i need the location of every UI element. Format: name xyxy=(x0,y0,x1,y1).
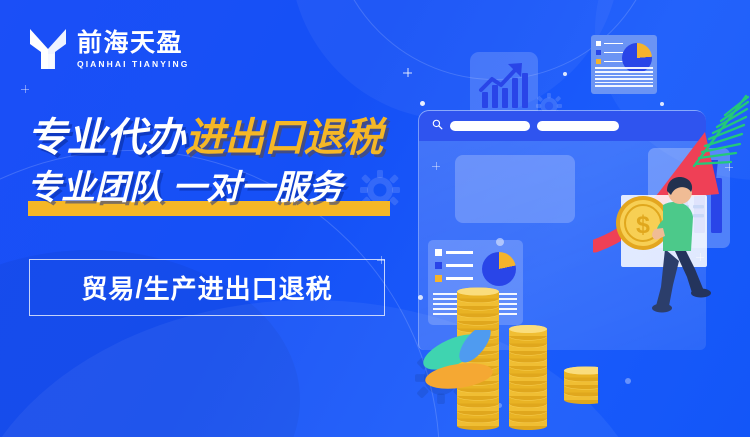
svg-text:$: $ xyxy=(636,211,650,239)
tagline-text: 贸易/生产进出口退税 xyxy=(81,269,332,306)
headline-line-1: 专业代办进出口退税 xyxy=(27,118,427,158)
brand-name-en: QIANHAI TIANYING xyxy=(77,59,189,69)
pie-chart-document-icon xyxy=(591,35,657,94)
legend-row xyxy=(596,59,623,64)
headline-line-1-white: 专业代办 xyxy=(27,116,185,160)
promotional-banner: 前海天盈 QIANHAI TIANYING 专业代办进出口退税 专业团队 一对一… xyxy=(0,0,750,437)
doc-text-lines xyxy=(595,67,653,89)
headline-line-2: 专业团队 一对一服务 xyxy=(27,171,427,205)
illustration: $ xyxy=(398,0,750,437)
headline-line-1-highlight: 进出口退税 xyxy=(185,116,383,160)
headline-block: 专业代办进出口退税 专业团队 一对一服务 xyxy=(27,118,427,217)
bar-chart-panel-icon xyxy=(455,155,575,223)
legend-row xyxy=(596,50,623,55)
shield-y-mark-icon xyxy=(28,27,68,71)
legend-row xyxy=(596,41,623,46)
address-bar-input[interactable] xyxy=(450,121,530,131)
decorative-leaves-icon xyxy=(413,330,533,400)
doc-legend xyxy=(596,41,623,68)
brand-logo[interactable]: 前海天盈 QIANHAI TIANYING xyxy=(28,27,189,71)
headline-line-2-wrap: 专业团队 一对一服务 xyxy=(27,171,427,217)
sparkle-plus-icon xyxy=(21,85,29,93)
tagline-box: 贸易/生产进出口退税 xyxy=(29,259,385,316)
search-icon[interactable] xyxy=(432,117,443,135)
brand-name-cn: 前海天盈 xyxy=(77,30,189,57)
chart-bars xyxy=(464,167,557,211)
palm-leaf-icon xyxy=(686,92,750,170)
person-pushing-coin-icon: $ xyxy=(613,165,718,330)
